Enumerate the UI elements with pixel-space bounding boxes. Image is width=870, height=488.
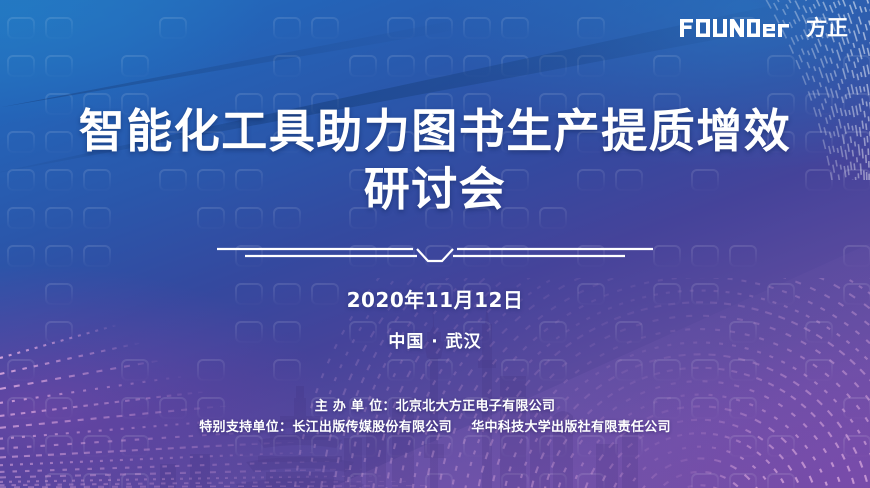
founder-logo: 方正 <box>679 17 848 39</box>
page-title-line-1: 智能化工具助力图书生产提质增效 <box>0 102 870 160</box>
founder-logo-chinese: 方正 <box>806 18 848 39</box>
title-block: 智能化工具助力图书生产提质增效 研讨会 <box>0 102 870 219</box>
organizer-line: 主 办 单 位：北京北大方正电子有限公司 <box>0 396 870 417</box>
founder-wordmark-icon <box>679 17 797 39</box>
event-date: 2020年11月12日 <box>347 284 524 313</box>
event-location: 中国 · 武汉 <box>388 327 481 352</box>
supporter-line: 特别支持单位：长江出版传媒股份有限公司 华中科技大学出版社有限责任公司 <box>0 417 870 438</box>
credits-block: 主 办 单 位：北京北大方正电子有限公司 特别支持单位：长江出版传媒股份有限公司… <box>0 396 870 438</box>
banner-content: 智能化工具助力图书生产提质增效 研讨会 2020年11月12日 中国 · 武汉 … <box>0 0 870 488</box>
conference-banner: 方正 智能化工具助力图书生产提质增效 研讨会 2020年11月12日 中国 · … <box>0 0 870 488</box>
divider-ornament <box>217 243 653 265</box>
page-title-line-2: 研讨会 <box>0 160 870 218</box>
